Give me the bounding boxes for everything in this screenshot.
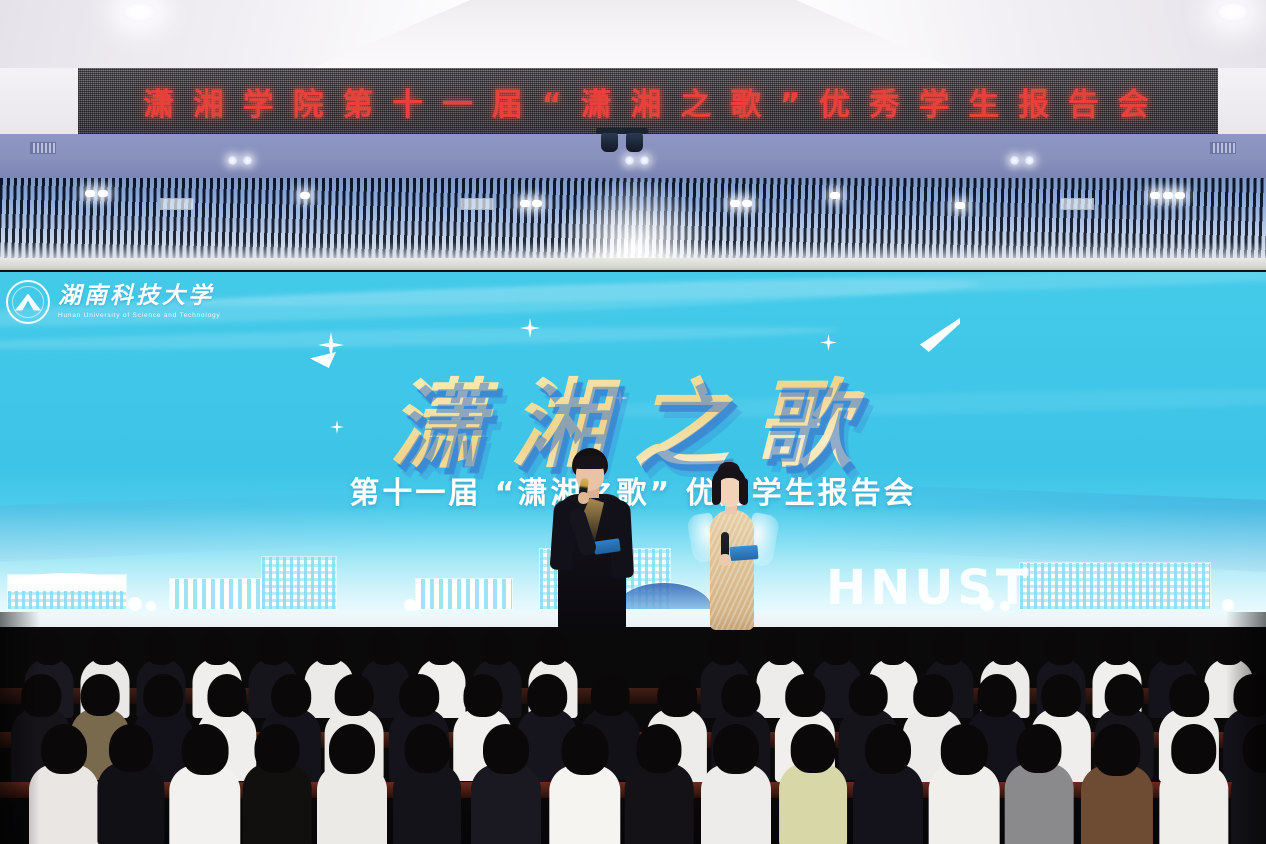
ceiling-slat-baffles xyxy=(0,178,1266,260)
university-emblem-icon xyxy=(6,280,50,324)
audience-member xyxy=(96,724,165,839)
audience-member-torso xyxy=(1005,763,1074,844)
skyline-building xyxy=(8,575,126,609)
stage-camera-icon xyxy=(596,128,648,154)
ceiling-access-panel xyxy=(460,198,494,210)
university-logo: 湖南科技大学 Hunan University of Science and T… xyxy=(6,280,220,324)
ceiling-access-panel xyxy=(1060,198,1094,210)
audience-member xyxy=(700,724,772,844)
sparkle-icon xyxy=(330,420,344,434)
led-banner: 潇 湘 学 院 第 十 一 届 “ 潇 湘 之 歌 ” 优 秀 学 生 报 告 … xyxy=(78,68,1218,134)
ceiling-vent-icon xyxy=(30,142,56,154)
slat-spotlight-icon xyxy=(830,192,840,199)
bush-decor xyxy=(1222,599,1234,611)
audience-member-head xyxy=(933,630,965,665)
audience-member-head xyxy=(41,724,87,774)
ceiling-bevel-right xyxy=(796,0,1266,78)
downlight-icon xyxy=(1010,156,1019,165)
audience-member-head xyxy=(369,630,401,665)
audience-member-head xyxy=(483,724,529,774)
audience-member-head xyxy=(1093,724,1140,776)
audience-member-head xyxy=(765,630,797,665)
sparkle-icon xyxy=(820,334,837,351)
screen-wave-decor xyxy=(0,322,840,354)
bush-decor xyxy=(128,597,142,611)
audience-member xyxy=(624,724,695,842)
male-host xyxy=(548,448,634,630)
audience-member-torso xyxy=(393,763,461,844)
downlight-icon xyxy=(1025,156,1034,165)
vignette-left xyxy=(0,612,40,844)
audience-member-head xyxy=(1169,674,1209,717)
audience-member-torso xyxy=(1159,764,1228,844)
slat-spotlight-icon xyxy=(520,200,530,207)
ceiling-vent-icon xyxy=(1210,142,1236,154)
audience-member-head xyxy=(1041,674,1081,717)
audience-member-torso xyxy=(243,763,312,844)
ceiling-light-icon xyxy=(1216,2,1250,22)
audience-member-head xyxy=(877,630,909,665)
audience-member-head xyxy=(637,724,682,773)
audience-member-head xyxy=(89,630,121,665)
audience-member-head xyxy=(791,724,836,773)
audience-member-head xyxy=(1171,724,1217,774)
audience xyxy=(0,612,1266,844)
audience-member-torso xyxy=(169,765,240,844)
audience-member-head xyxy=(1017,724,1062,773)
audience-member-head xyxy=(271,674,311,717)
audience-member-head xyxy=(257,630,289,665)
university-name-en: Hunan University of Science and Technolo… xyxy=(58,313,220,320)
auditorium-photo: 潇 湘 学 院 第 十 一 届 “ 潇 湘 之 歌 ” 优 秀 学 生 报 告 … xyxy=(0,0,1266,844)
skyline-building xyxy=(170,579,268,609)
bush-decor xyxy=(412,603,420,611)
audience-member xyxy=(470,724,542,844)
downlight-icon xyxy=(640,156,649,165)
audience-member-head xyxy=(481,630,513,665)
audience-member-torso xyxy=(1081,765,1153,844)
audience-member-torso xyxy=(929,764,1000,844)
slat-spotlight-icon xyxy=(300,192,310,199)
audience-member-head xyxy=(145,630,177,665)
audience-member-head xyxy=(785,674,825,717)
ceiling-bevel-left xyxy=(0,0,470,78)
audience-member-head xyxy=(591,674,630,716)
audience-member xyxy=(548,724,621,844)
audience-member-head xyxy=(821,630,853,665)
audience-member xyxy=(928,724,1001,844)
audience-member-head xyxy=(989,630,1021,665)
audience-member-torso xyxy=(471,764,541,844)
ceiling-access-panel xyxy=(160,198,194,210)
cue-card xyxy=(730,545,759,561)
downlight-icon xyxy=(625,156,634,165)
audience-member-head xyxy=(255,724,300,773)
led-banner-text: 潇 湘 学 院 第 十 一 届 “ 潇 湘 之 歌 ” 优 秀 学 生 报 告 … xyxy=(143,79,1153,124)
banner-wall-left xyxy=(0,68,78,134)
audience-member-head xyxy=(709,630,741,665)
audience-member-head xyxy=(865,724,911,774)
audience-member-head xyxy=(463,674,502,717)
vignette-right xyxy=(1226,612,1266,844)
audience-member xyxy=(778,724,848,840)
audience-member-head xyxy=(201,630,233,665)
slat-spotlight-icon xyxy=(1163,192,1173,199)
skyline-building xyxy=(416,579,512,609)
slat-spotlight-icon xyxy=(532,200,542,207)
audience-member-torso xyxy=(701,764,771,844)
audience-member-head xyxy=(941,724,987,775)
slat-spotlight-icon xyxy=(1175,192,1185,199)
audience-member-head xyxy=(207,674,246,717)
ceiling-light-icon xyxy=(122,2,156,22)
audience-member xyxy=(852,724,924,844)
audience-member-head xyxy=(1101,630,1133,665)
audience-member-torso xyxy=(625,763,694,844)
audience-member-head xyxy=(977,674,1016,717)
audience-member xyxy=(316,724,388,844)
audience-member-torso xyxy=(97,762,164,844)
audience-member-head xyxy=(1105,674,1144,716)
skyline-building xyxy=(1020,563,1210,609)
triangle-decor-icon xyxy=(310,352,336,368)
audience-member-head xyxy=(313,630,345,665)
hnust-wordmark: HNUST xyxy=(826,560,1033,616)
female-host xyxy=(688,466,778,630)
audience-member xyxy=(1158,724,1229,843)
audience-member-head xyxy=(335,674,374,716)
audience-member-torso xyxy=(317,764,387,844)
slat-spotlight-icon xyxy=(730,200,740,207)
audience-member-head xyxy=(405,724,450,773)
bush-decor xyxy=(146,601,156,611)
audience-member-head xyxy=(81,674,120,716)
slat-spotlight-icon xyxy=(98,190,108,197)
audience-member xyxy=(392,724,462,840)
audience-member-head xyxy=(1045,630,1077,665)
audience-member-head xyxy=(561,724,608,775)
audience-member xyxy=(1004,724,1075,842)
audience-member-head xyxy=(425,630,457,665)
corner-decor-icon xyxy=(920,318,960,352)
slat-spotlight-icon xyxy=(1150,192,1160,199)
downlight-icon xyxy=(243,156,252,165)
downlight-icon xyxy=(228,156,237,165)
slat-spotlight-icon xyxy=(742,200,752,207)
audience-member-head xyxy=(329,724,375,774)
audience-member xyxy=(1080,724,1154,844)
audience-member-head xyxy=(657,674,697,717)
ceiling xyxy=(0,0,1266,78)
audience-member-head xyxy=(1157,630,1189,665)
audience-member-torso xyxy=(779,763,847,844)
slat-spotlight-icon xyxy=(85,190,95,197)
audience-member-torso xyxy=(853,764,923,844)
audience-member-head xyxy=(181,724,228,775)
audience-member-head xyxy=(721,674,760,717)
screen-wave-decor xyxy=(520,383,1266,424)
university-name-cn: 湖南科技大学 xyxy=(58,285,220,308)
audience-member-torso xyxy=(549,765,620,844)
audience-member-head xyxy=(108,724,152,772)
audience-member-head xyxy=(143,674,183,717)
audience-member-head xyxy=(527,674,567,717)
audience-member xyxy=(168,724,241,844)
audience-member-head xyxy=(399,674,439,717)
audience-member-head xyxy=(713,724,759,774)
audience-member-head xyxy=(849,674,888,716)
slat-spotlight-icon xyxy=(955,202,965,209)
audience-member-head xyxy=(913,674,953,717)
audience-member xyxy=(242,724,313,842)
skyline-building xyxy=(262,557,336,609)
audience-member-head xyxy=(537,630,569,665)
